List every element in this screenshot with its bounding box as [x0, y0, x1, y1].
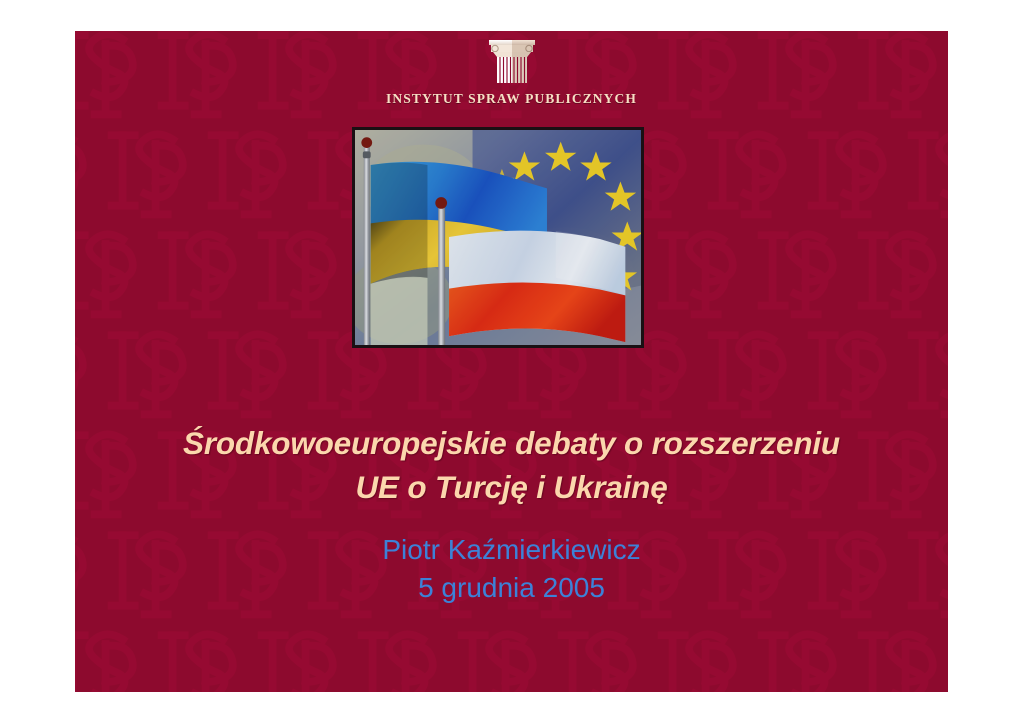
ionic-column-icon	[485, 38, 539, 84]
organization-name: INSTYTUT SPRAW PUBLICZNYCH	[75, 91, 948, 107]
title-line-2: UE o Turcję i Ukrainę	[75, 465, 948, 509]
organization-logo: INSTYTUT SPRAW PUBLICZNYCH	[75, 31, 948, 107]
presentation-page: INSTYTUT SPRAW PUBLICZNYCH	[0, 0, 1024, 724]
flags-photo	[352, 127, 644, 348]
title-slide: INSTYTUT SPRAW PUBLICZNYCH	[75, 31, 948, 692]
title-line-1: Środkowoeuropejskie debaty o rozszerzeni…	[75, 421, 948, 465]
author-name: Piotr Kaźmierkiewicz	[75, 531, 948, 569]
presentation-date: 5 grudnia 2005	[75, 569, 948, 607]
page-title: Środkowoeuropejskie debaty o rozszerzeni…	[75, 421, 948, 509]
subtitle: Piotr Kaźmierkiewicz 5 grudnia 2005	[75, 531, 948, 607]
flags-photo-image	[355, 130, 641, 345]
